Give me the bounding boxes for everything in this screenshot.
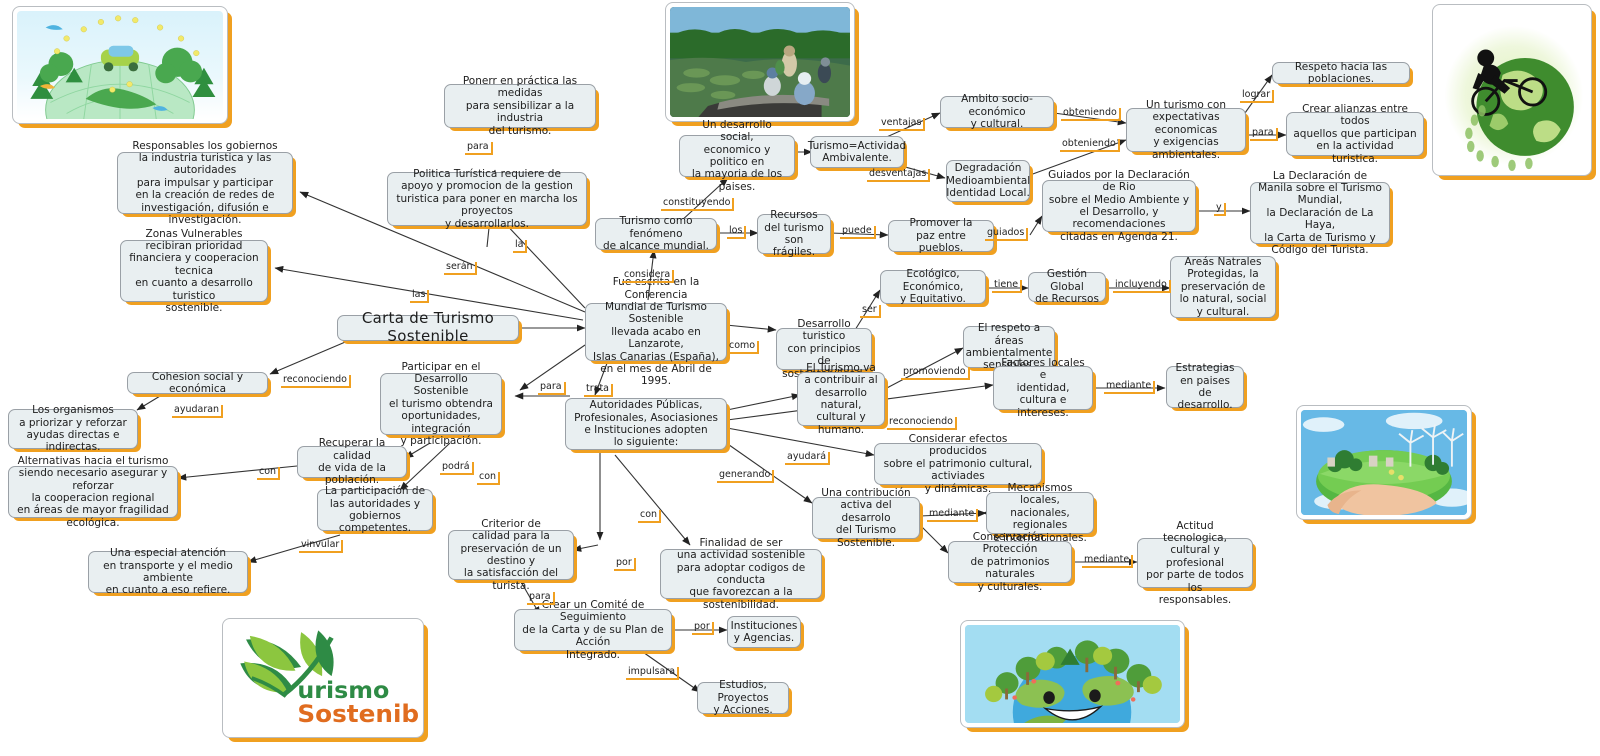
node-estrategias-paises[interactable]: Estrategias en paises de desarrollo. (1166, 366, 1244, 408)
node-responsables[interactable]: Responsables los gobiernos la industria … (117, 152, 293, 214)
link-label-los: los (727, 226, 746, 239)
node-considerar-efectos[interactable]: Considerar efectos producidos sobre el p… (874, 443, 1042, 485)
link-label-ventajas: ventajas (879, 118, 925, 131)
node-alternativas[interactable]: Alternativas hacia el turismo siendo nec… (8, 466, 178, 518)
node-factores-locales[interactable]: Factores locales e identidad, cultura e … (993, 366, 1093, 410)
link-label-generando: generando (717, 470, 774, 483)
node-criterior-calidad[interactable]: Criterior de calidad para la preservació… (448, 530, 574, 580)
link-label-ayudaran: ayudaran (172, 405, 223, 418)
node-actitud-tecnologica[interactable]: Actitud tecnologica, cultural y profesio… (1137, 538, 1253, 588)
link-label-las: las (410, 290, 429, 303)
node-desarrollo-social[interactable]: Un desarrollo social, economico y politi… (679, 135, 795, 177)
link-label-puede: puede (840, 226, 876, 239)
node-ponerr-practica[interactable]: Ponerr en práctica las medidas para sens… (444, 84, 596, 128)
node-crear-alianzas[interactable]: Crear alianzas entre todos aquellos que … (1286, 112, 1424, 156)
link-label-por-instituciones: por (692, 622, 714, 635)
node-autoridades-publicas[interactable]: Autoridades Públicas, Profesionales, Aso… (565, 398, 727, 450)
node-ambito-socio-economico[interactable]: Ambito socio-económico y cultural. (940, 96, 1054, 128)
link-label-podra: podrá (440, 462, 474, 475)
link-label-obteniendo-1: obteniendo (1061, 108, 1121, 121)
link-label-y: y (1214, 203, 1226, 216)
node-recuperar-calidad[interactable]: Recuperar la calidad de vida de la pobla… (297, 446, 407, 478)
node-turismo-expectativas[interactable]: Un turismo con expectativas economicas y… (1126, 108, 1246, 152)
node-instituciones-agencias[interactable]: Instituciones y Agencias. (727, 616, 801, 648)
link-label-trata: trata (584, 384, 613, 397)
node-gestion-global[interactable]: Gestión Global de Recursos (1028, 272, 1106, 302)
node-areas-naturales[interactable]: Areás Natrales Protegidas, la preservaci… (1170, 256, 1276, 318)
link-label-considera: considera (622, 270, 674, 283)
happy-earth-trees-image (960, 620, 1185, 728)
link-label-incluyendo: incluyendo (1113, 280, 1171, 293)
node-turismo-contribuir[interactable]: El Turismo va a contribuir al desarrollo… (797, 372, 885, 426)
link-label-como: como (727, 341, 759, 354)
link-label-lograr: lograr (1240, 90, 1274, 103)
node-title-carta[interactable]: Carta de Turismo Sostenible (337, 315, 519, 341)
node-ecologico[interactable]: Ecológico, Económico, y Equitativo. (880, 270, 986, 304)
amazon-boat-tour-image (665, 2, 855, 122)
node-estudios-proyectos[interactable]: Estudios, Proyectos y Acciones. (697, 682, 789, 714)
node-turismo-fenomeno[interactable]: Turismo como fenómeno de alcance mundial… (595, 218, 717, 250)
link-label-mediante-mecanismos: mediante (927, 509, 978, 522)
link-label-para-participar: para (538, 382, 566, 395)
node-participacion-autoridades[interactable]: La participación de las autoridades y go… (317, 489, 433, 531)
node-turismo-ambivalente[interactable]: Turismo=Actividad Ambivalente. (810, 136, 904, 168)
link-label-para-alianzas: para (1250, 128, 1278, 141)
node-cohesion-social[interactable]: Cohesion social y económica (127, 372, 268, 394)
node-degradacion[interactable]: Degradación Medioambiental Identidad Loc… (946, 160, 1030, 202)
link-label-vinvular: vinvular (299, 540, 343, 553)
turismo-sostenible-logo-image: urismo Sostenible (222, 618, 424, 738)
link-label-ser: ser (860, 305, 881, 318)
node-mecanismos[interactable]: Mecanismos locales, nacionales, regional… (986, 492, 1094, 534)
link-label-para-ponerr: para (465, 142, 493, 155)
node-participar-desarrollo[interactable]: Participar en el Desarrollo Sostenible e… (380, 373, 502, 435)
link-label-guiados: guiados (985, 228, 1028, 241)
node-crear-comite[interactable]: Crear un Comité de Seguimiento de la Car… (514, 609, 672, 651)
node-conferencia[interactable]: Fue escrita en la Conferencia Mundial de… (585, 303, 727, 361)
link-label-seran: serán (444, 262, 477, 275)
link-label-con-finalidad: con (638, 510, 661, 523)
link-label-constituyendo: constituyendo (661, 198, 734, 211)
link-label-con-participacion: con (477, 472, 500, 485)
node-organismos[interactable]: Los organismos a priorizar y reforzar ay… (8, 409, 138, 449)
link-label-la: la (513, 240, 527, 253)
link-label-para-comite: para (527, 592, 555, 605)
node-promover-paz[interactable]: Promover la paz entre pueblos. (888, 220, 994, 252)
concept-map-canvas: urismo Sostenible Responsables los gobie… (0, 0, 1600, 756)
node-finalidad-ser[interactable]: Finalidad de ser una actividad sostenibl… (660, 549, 822, 599)
link-label-mediante-actitud: mediante (1082, 555, 1133, 568)
logo-line-2: Sostenible (297, 699, 419, 727)
link-label-reconociendo-cohesion: reconociendo (281, 375, 351, 388)
link-label-ayudara: ayudará (785, 452, 830, 465)
link-label-con-alternativas: con (257, 467, 280, 480)
link-label-impulsara: impulsara (626, 667, 679, 680)
hand-green-planet-windmills-image (1296, 405, 1472, 520)
eco-globe-car-image (12, 6, 228, 124)
link-label-reconociendo-factores: reconociendo (887, 417, 957, 430)
node-declaracion-manila[interactable]: La Declaración de Manila sobre el Turism… (1250, 182, 1390, 244)
link-label-por-criterior: por (614, 558, 636, 571)
node-politica-turistica[interactable]: Politica Turística requiere de apoyo y p… (387, 172, 587, 226)
node-recursos-fragiles[interactable]: Recursos del turismo son frágiles. (757, 214, 831, 254)
cyclist-green-globe-image (1432, 4, 1592, 176)
node-respeto-poblaciones[interactable]: Respeto hacia las poblaciones. (1272, 62, 1410, 84)
node-especial-atencion[interactable]: Una especial atención en transporte y el… (88, 551, 248, 593)
link-label-tiene: tiene (992, 280, 1022, 293)
node-guiados-rio[interactable]: Guiados por la Declaración de Rio sobre … (1042, 180, 1196, 232)
node-conservacion[interactable]: Conservación, Protección de patrimonios … (948, 541, 1072, 583)
link-label-mediante-estrategias: mediante (1104, 381, 1155, 394)
link-label-obteniendo-2: obteniendo (1060, 139, 1120, 152)
node-zonas-vulnerables[interactable]: Zonas Vulnerables recibiran prioridad fi… (120, 240, 268, 302)
link-label-promoviendo: promoviendo (901, 367, 970, 380)
node-contribucion-activa[interactable]: Una contribución activa del desarrolo de… (812, 497, 920, 539)
link-label-desventajas: desventajas (867, 169, 930, 182)
